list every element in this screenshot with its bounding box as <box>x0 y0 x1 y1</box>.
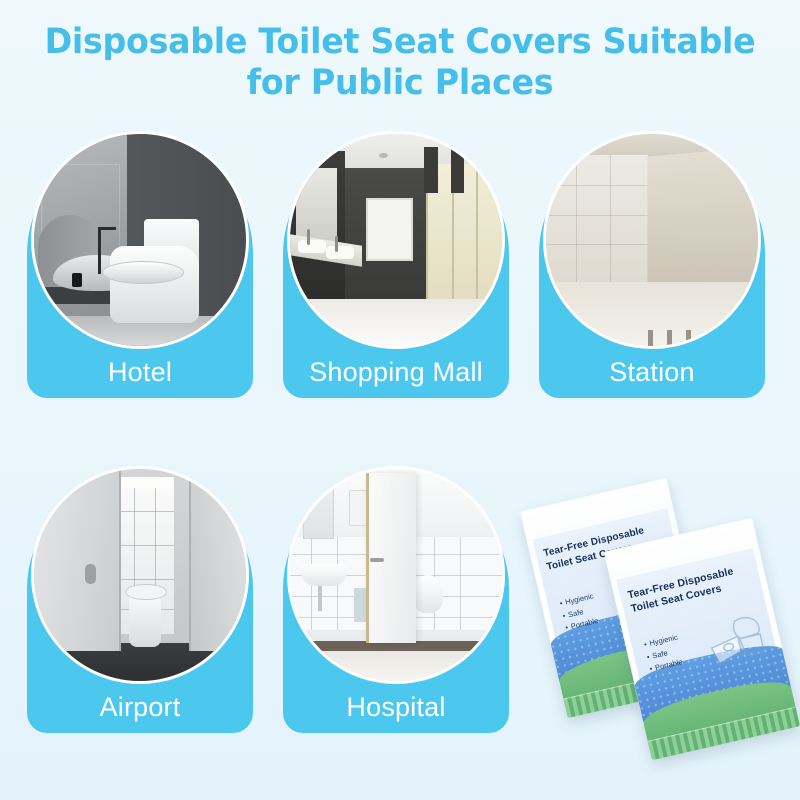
infographic-canvas: Disposable Toilet Seat Covers Suitable f… <box>0 0 800 800</box>
shopping-mall-photo <box>290 134 502 346</box>
place-card-label: Station <box>539 357 765 388</box>
page-title: Disposable Toilet Seat Covers Suitable f… <box>20 22 780 104</box>
hospital-photo <box>290 469 502 681</box>
airport-photo <box>34 469 246 681</box>
place-card-airport[interactable]: Airport <box>27 477 253 733</box>
place-card-shopping-mall[interactable]: Shopping Mall <box>283 142 509 398</box>
hospital-restroom-scene <box>290 469 502 681</box>
place-card-station[interactable]: Station <box>539 142 765 398</box>
product-packets: Tear-Free Disposable Toilet Seat Covers … <box>530 480 798 780</box>
place-card-label: Shopping Mall <box>283 357 509 388</box>
place-card-hotel[interactable]: Hotel <box>27 142 253 398</box>
station-restroom-scene <box>546 134 758 346</box>
station-photo <box>546 134 758 346</box>
stall-lock-icon <box>85 564 96 584</box>
place-card-hospital[interactable]: Hospital <box>283 477 509 733</box>
place-card-label: Airport <box>27 692 253 723</box>
place-card-label: Hotel <box>27 357 253 388</box>
mall-restroom-scene <box>290 134 502 346</box>
hotel-bathroom-scene <box>34 134 246 346</box>
hotel-photo <box>34 134 246 346</box>
airport-restroom-scene <box>34 469 246 681</box>
place-card-label: Hospital <box>283 692 509 723</box>
product-packet-front: Tear-Free Disposable Toilet Seat Covers … <box>604 518 800 761</box>
